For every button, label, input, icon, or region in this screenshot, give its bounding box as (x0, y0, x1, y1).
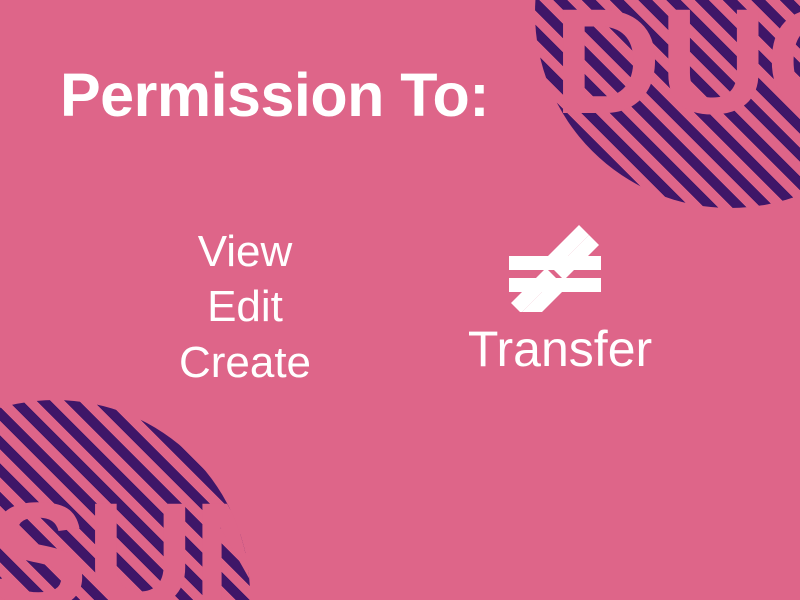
diagonal-stripe-pattern (535, 0, 800, 208)
permission-list: View Edit Create (110, 224, 380, 390)
page-title: Permission To: (60, 62, 489, 129)
decorative-word-sun: SUN (0, 400, 250, 600)
top-right-striped-circle: DUC (535, 0, 800, 208)
permission-item-edit: Edit (110, 279, 380, 334)
transfer-label: Transfer (440, 324, 680, 374)
slide-canvas: DUC SUN Permission To: View Edit Create … (0, 0, 800, 600)
permission-item-create: Create (110, 335, 380, 390)
transfer-arrows-icon (495, 222, 625, 312)
bottom-left-striped-circle: SUN (0, 400, 250, 600)
decorative-word-duc: DUC (535, 0, 800, 208)
transfer-block: Transfer (440, 222, 680, 374)
permission-item-view: View (110, 224, 380, 279)
diagonal-stripe-pattern (0, 400, 250, 600)
